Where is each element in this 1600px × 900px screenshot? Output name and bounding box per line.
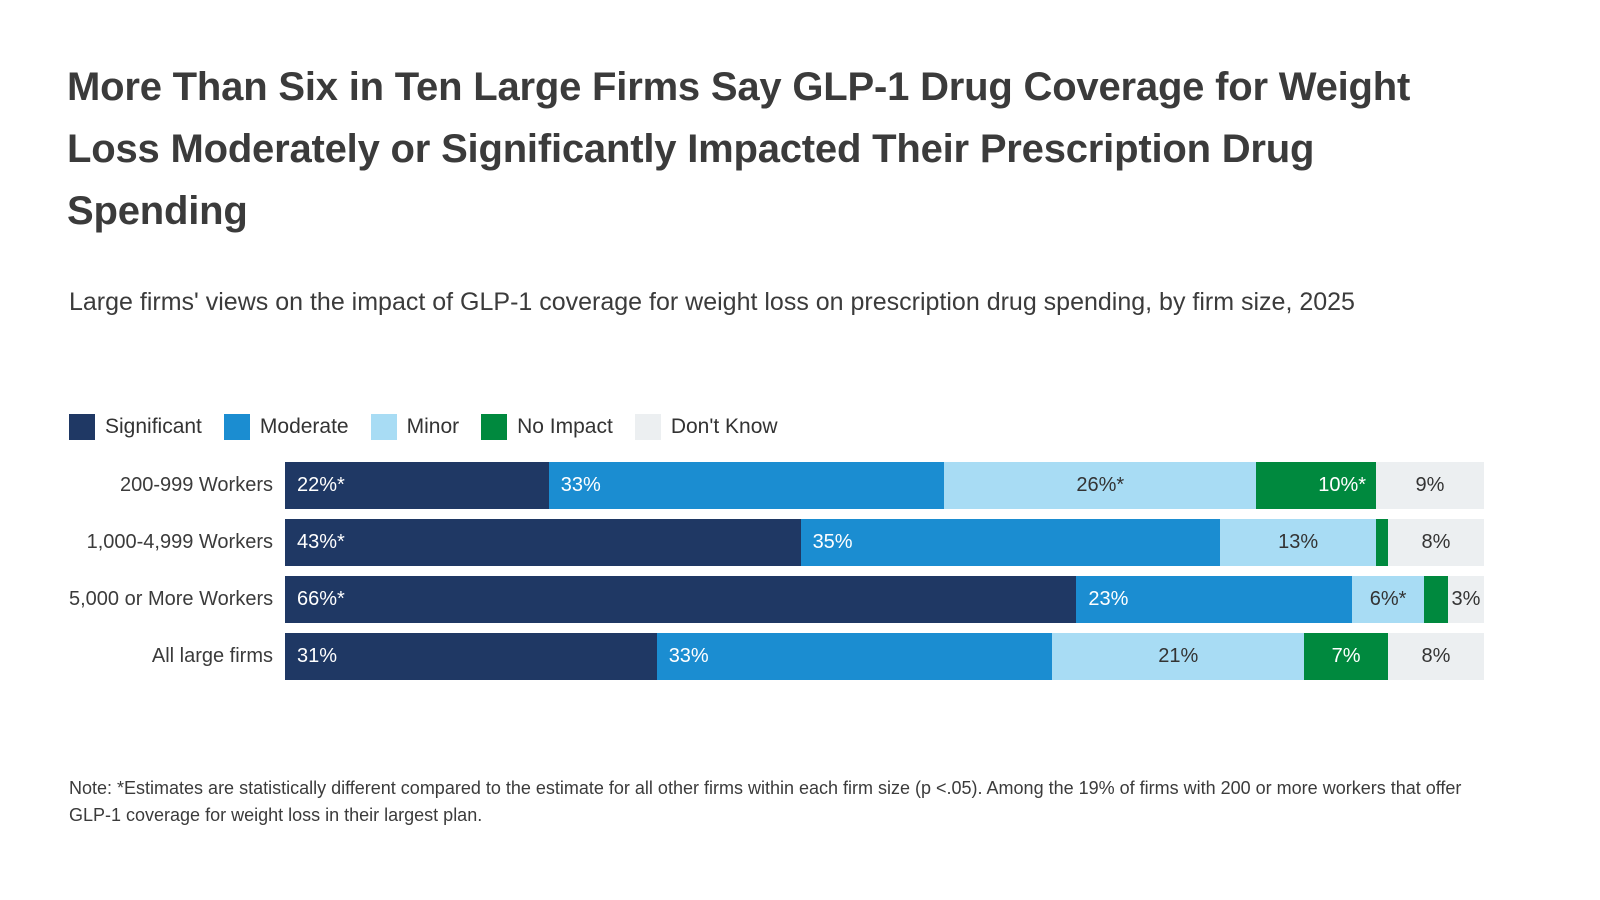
bar-segment-significant[interactable]: 66%* <box>285 576 1076 623</box>
stacked-bar: 66%*23%6%*3% <box>285 576 1484 623</box>
bar-segment-value-label: 23% <box>1088 588 1128 611</box>
bar-segment-moderate[interactable]: 33% <box>549 462 945 509</box>
bar-segment-don-t-know[interactable]: 9% <box>1376 462 1484 509</box>
chart-row: All large firms31%33%21%7%8% <box>69 633 1484 680</box>
chart-legend: SignificantModerateMinorNo ImpactDon't K… <box>69 414 800 440</box>
stacked-bar: 43%*35%13%8% <box>285 519 1484 566</box>
legend-swatch-icon <box>69 414 95 440</box>
bar-segment-value-label: 33% <box>669 645 709 668</box>
legend-item-label: Moderate <box>260 415 349 439</box>
chart-row: 5,000 or More Workers66%*23%6%*3% <box>69 576 1484 623</box>
bar-segment-minor[interactable]: 13% <box>1220 519 1376 566</box>
legend-swatch-icon <box>481 414 507 440</box>
legend-item-don-t-know[interactable]: Don't Know <box>635 414 778 440</box>
row-category-label: 1,000-4,999 Workers <box>69 531 285 554</box>
bar-segment-value-label: 6%* <box>1370 588 1407 611</box>
bar-segment-no-impact[interactable] <box>1376 519 1388 566</box>
bar-segment-value-label: 31% <box>297 645 337 668</box>
stacked-bar: 31%33%21%7%8% <box>285 633 1484 680</box>
bar-segment-value-label: 43%* <box>297 531 345 554</box>
legend-item-minor[interactable]: Minor <box>371 414 460 440</box>
stacked-bar: 22%*33%26%*10%*9% <box>285 462 1484 509</box>
bar-segment-value-label: 3% <box>1452 588 1481 611</box>
bar-segment-minor[interactable]: 21% <box>1052 633 1304 680</box>
bar-segment-value-label: 22%* <box>297 474 345 497</box>
bar-segment-no-impact[interactable]: 7% <box>1304 633 1388 680</box>
bar-segment-value-label: 21% <box>1158 645 1198 668</box>
legend-item-moderate[interactable]: Moderate <box>224 414 349 440</box>
bar-segment-no-impact[interactable] <box>1424 576 1448 623</box>
chart-row: 200-999 Workers22%*33%26%*10%*9% <box>69 462 1484 509</box>
row-category-label: 200-999 Workers <box>69 474 285 497</box>
bar-segment-don-t-know[interactable]: 3% <box>1448 576 1484 623</box>
bar-segment-significant[interactable]: 31% <box>285 633 657 680</box>
legend-swatch-icon <box>371 414 397 440</box>
chart-subtitle: Large firms' views on the impact of GLP-… <box>69 283 1489 321</box>
bar-segment-value-label: 35% <box>813 531 853 554</box>
row-category-label: All large firms <box>69 645 285 668</box>
bar-segment-moderate[interactable]: 23% <box>1076 576 1352 623</box>
bar-segment-value-label: 8% <box>1422 645 1451 668</box>
bar-segment-value-label: 9% <box>1416 474 1445 497</box>
legend-item-label: Minor <box>407 415 460 439</box>
page-title: More Than Six in Ten Large Firms Say GLP… <box>67 56 1487 242</box>
legend-item-label: Significant <box>105 415 202 439</box>
legend-swatch-icon <box>224 414 250 440</box>
bar-segment-significant[interactable]: 22%* <box>285 462 549 509</box>
bar-segment-value-label: 13% <box>1278 531 1318 554</box>
bar-segment-don-t-know[interactable]: 8% <box>1388 519 1484 566</box>
chart-page: More Than Six in Ten Large Firms Say GLP… <box>0 0 1600 900</box>
legend-item-label: Don't Know <box>671 415 778 439</box>
bar-segment-value-label: 66%* <box>297 588 345 611</box>
bar-segment-significant[interactable]: 43%* <box>285 519 801 566</box>
bar-segment-value-label: 10%* <box>1318 474 1366 497</box>
legend-item-significant[interactable]: Significant <box>69 414 202 440</box>
legend-item-no-impact[interactable]: No Impact <box>481 414 613 440</box>
legend-item-label: No Impact <box>517 415 613 439</box>
bar-segment-value-label: 33% <box>561 474 601 497</box>
stacked-bar-chart: 200-999 Workers22%*33%26%*10%*9%1,000-4,… <box>69 462 1484 690</box>
bar-segment-value-label: 26%* <box>1076 474 1124 497</box>
bar-segment-value-label: 7% <box>1332 645 1361 668</box>
bar-segment-moderate[interactable]: 35% <box>801 519 1221 566</box>
bar-segment-minor[interactable]: 6%* <box>1352 576 1424 623</box>
row-category-label: 5,000 or More Workers <box>69 588 285 611</box>
bar-segment-value-label: 8% <box>1422 531 1451 554</box>
bar-segment-don-t-know[interactable]: 8% <box>1388 633 1484 680</box>
chart-row: 1,000-4,999 Workers43%*35%13%8% <box>69 519 1484 566</box>
bar-segment-moderate[interactable]: 33% <box>657 633 1053 680</box>
bar-segment-minor[interactable]: 26%* <box>944 462 1256 509</box>
chart-note: Note: *Estimates are statistically diffe… <box>69 775 1481 829</box>
bar-segment-no-impact[interactable]: 10%* <box>1256 462 1376 509</box>
legend-swatch-icon <box>635 414 661 440</box>
